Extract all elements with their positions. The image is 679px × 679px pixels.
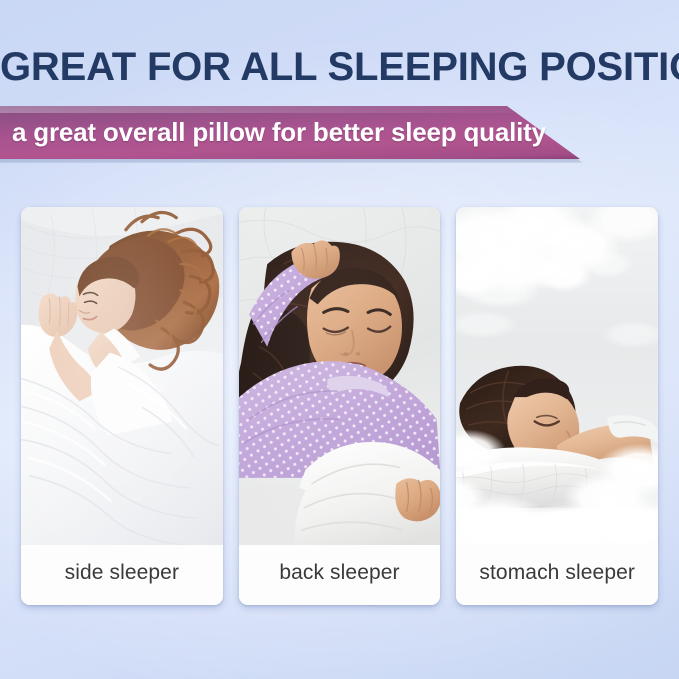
subtitle-ribbon: a great overall pillow for better sleep … (0, 106, 580, 159)
side-sleeper-photo (21, 207, 223, 545)
card-stomach-sleeper: stomach sleeper (456, 207, 658, 605)
card-back-sleeper: back sleeper (239, 207, 441, 605)
ribbon-label: a great overall pillow for better sleep … (0, 106, 560, 159)
sleeping-position-card-list: side sleeper (21, 207, 658, 605)
card-label-back-sleeper: back sleeper (239, 545, 441, 605)
back-sleeper-photo (239, 207, 441, 545)
card-label-side-sleeper: side sleeper (21, 545, 223, 605)
card-label-stomach-sleeper: stomach sleeper (456, 545, 658, 605)
page-title: GREAT FOR ALL SLEEPING POSITIONS (0, 44, 679, 90)
card-side-sleeper: side sleeper (21, 207, 223, 605)
stomach-sleeper-photo (456, 207, 658, 545)
product-feature-banner: GREAT FOR ALL SLEEPING POSITIONS a great… (0, 0, 679, 679)
